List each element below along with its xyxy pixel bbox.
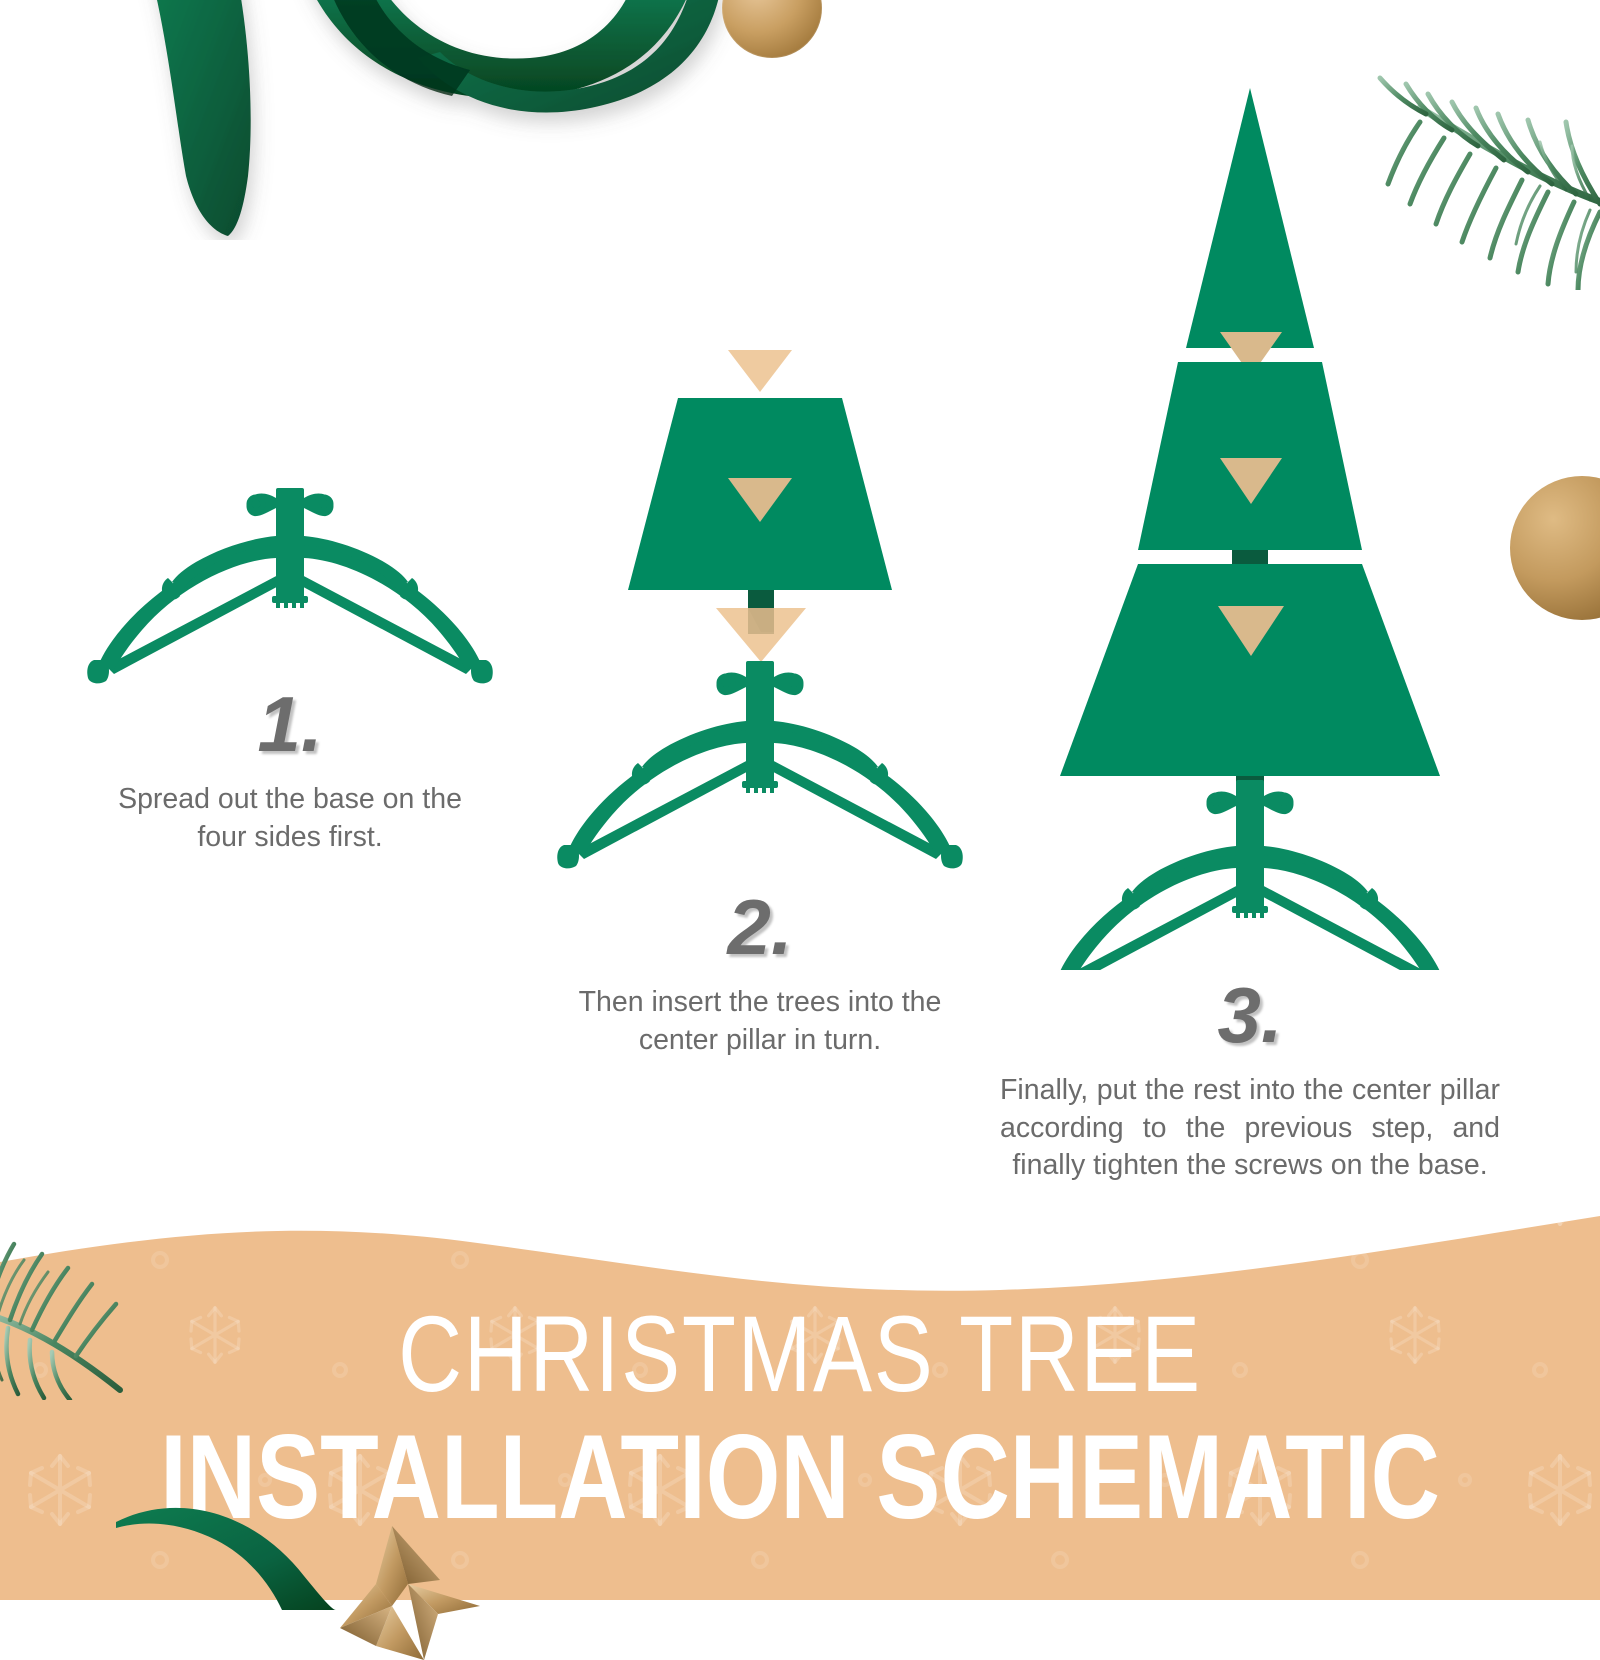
step-2: 2. Then insert the trees into the center… — [500, 340, 1020, 1059]
assembly-arrow-top — [728, 350, 792, 392]
title-line-2: INSTALLATION SCHEMATIC — [160, 1414, 1440, 1540]
title-block: CHRISTMAS TREE INSTALLATION SCHEMATIC — [0, 1300, 1600, 1540]
tree-tier-2-shape — [1138, 362, 1362, 550]
infographic-canvas: 1. Spread out the base on the four sides… — [0, 0, 1600, 1600]
tree-tier-3 — [1060, 564, 1440, 776]
step-3-number: 3. — [960, 976, 1540, 1054]
satin-ribbon-loop-decoration — [0, 0, 820, 240]
full-tree-on-stand-figure-step-3 — [970, 80, 1530, 970]
title-line-1: CHRISTMAS TREE — [144, 1300, 1456, 1408]
trapezoid-tier-above-stand-figure-step-2 — [520, 340, 1000, 870]
gold-ornament-ball-decoration — [700, 0, 860, 110]
tree-tier-1-apex — [1186, 88, 1314, 348]
step-1-number: 1. — [40, 685, 540, 763]
center-pillar-segment-1 — [1232, 550, 1268, 564]
tree-stand-base-figure-step-1 — [80, 470, 500, 685]
step-2-description: Then insert the trees into the center pi… — [550, 984, 970, 1059]
step-1-description: Spread out the base on the four sides fi… — [90, 781, 490, 856]
step-2-number: 2. — [500, 888, 1020, 966]
step-1: 1. Spread out the base on the four sides… — [40, 470, 540, 856]
step-3: 3. Finally, put the rest into the center… — [960, 80, 1540, 1185]
step-3-description: Finally, put the rest into the center pi… — [1000, 1072, 1500, 1185]
